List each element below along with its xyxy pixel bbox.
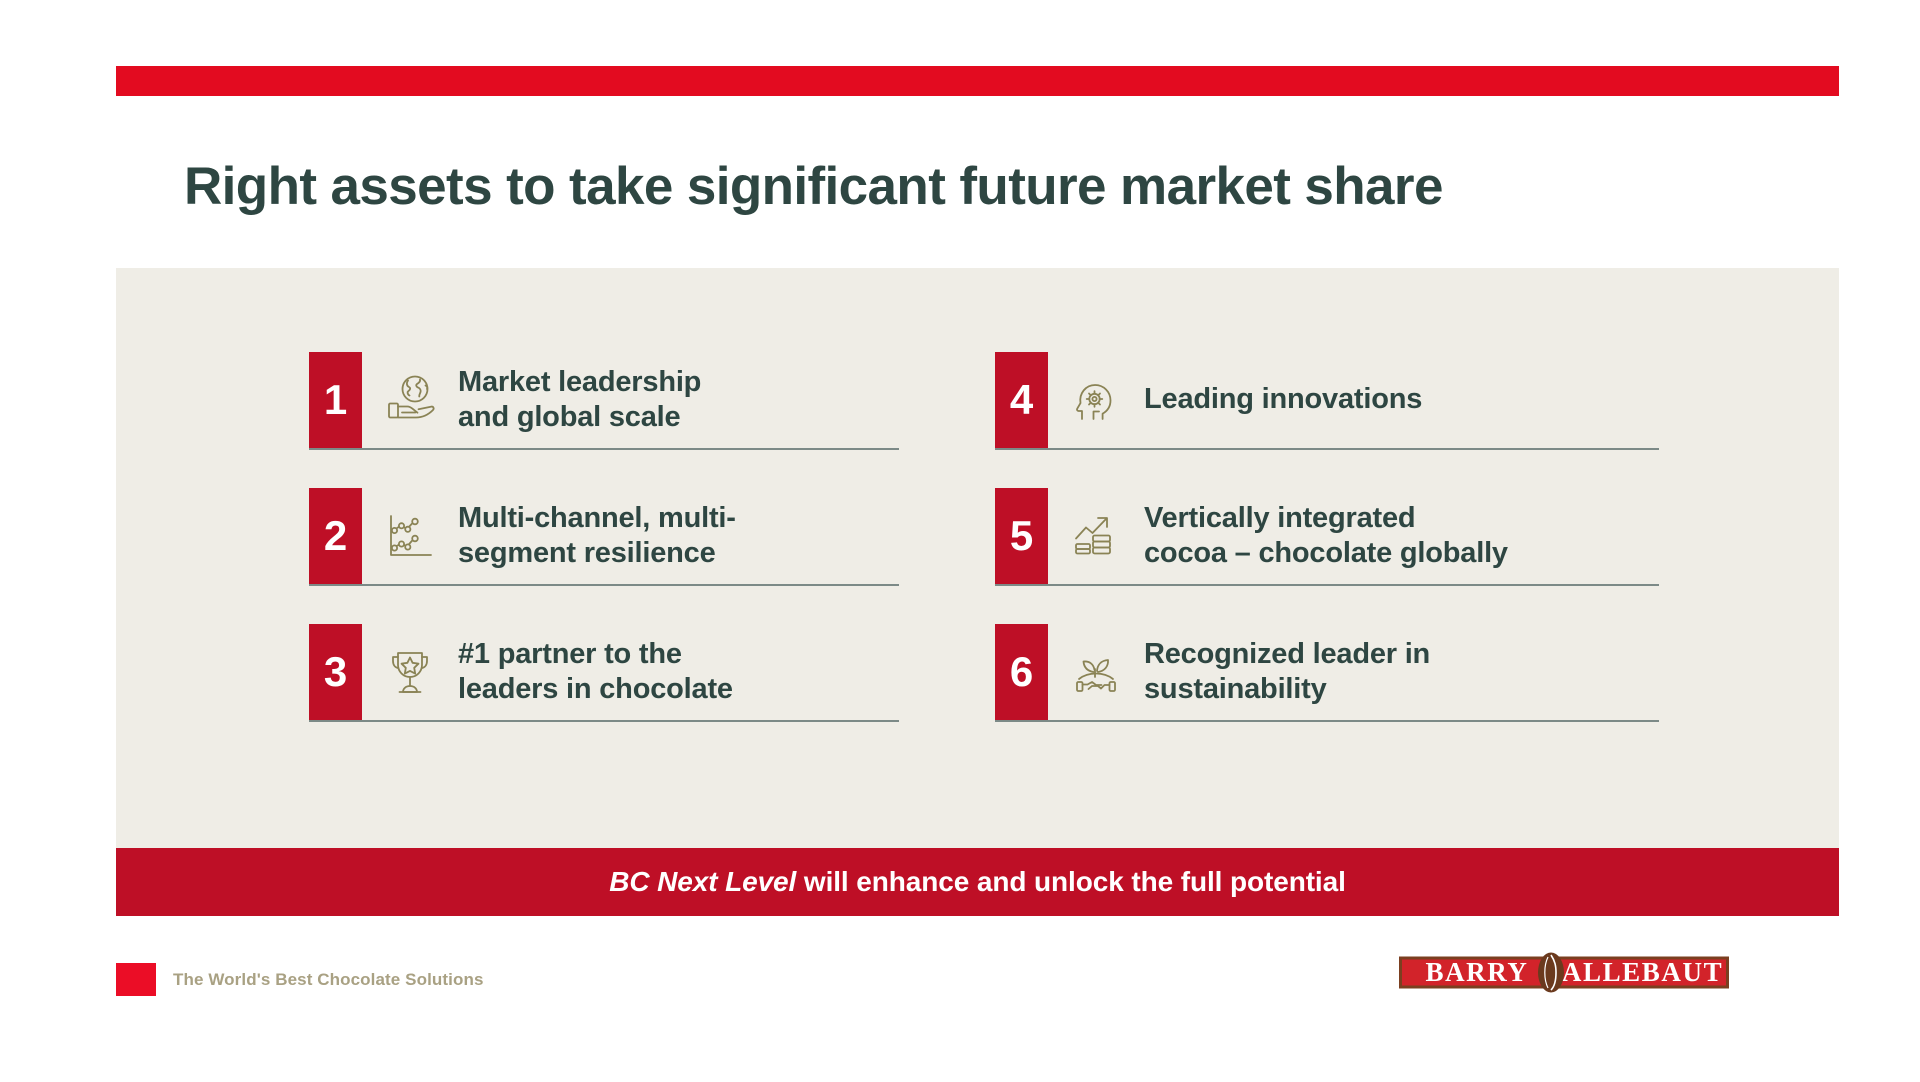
asset-label-1: Market leadership and global scale <box>458 352 899 448</box>
bottom-banner: BC Next Level will enhance and unlock th… <box>116 848 1839 916</box>
asset-number-6: 6 <box>995 624 1048 720</box>
asset-item-6[interactable]: 6 Recognized leader in <box>995 624 1659 722</box>
tagline-square-icon <box>116 963 156 996</box>
asset-label-6-line1: Recognized leader in <box>1144 638 1430 670</box>
asset-label-3-line2: leaders in chocolate <box>458 673 733 705</box>
trophy-star-icon <box>362 624 458 720</box>
tagline-text: The World's Best Chocolate Solutions <box>173 970 484 990</box>
logo-word-callebaut: CALLEBAUT <box>1541 957 1723 987</box>
growth-arrow-coins-icon <box>1048 488 1144 584</box>
asset-item-2[interactable]: 2 <box>309 488 899 586</box>
banner-emphasis: BC Next Level <box>609 866 796 897</box>
asset-label-3: #1 partner to the leaders in chocolate <box>458 624 899 720</box>
asset-label-6: Recognized leader in sustainability <box>1144 624 1659 720</box>
asset-grid: 1 Market leadership <box>309 352 1659 722</box>
asset-label-5: Vertically integrated cocoa – chocolate … <box>1144 488 1659 584</box>
asset-number-3: 3 <box>309 624 362 720</box>
asset-label-1-line1: Market leadership <box>458 366 701 398</box>
asset-item-4[interactable]: 4 Leading innovations <box>995 352 1659 450</box>
barry-callebaut-logo: BARRY CALLEBAUT <box>1399 952 1729 994</box>
asset-label-1-line2: and global scale <box>458 401 680 433</box>
asset-label-2-line2: segment resilience <box>458 537 716 569</box>
asset-label-6-line2: sustainability <box>1144 673 1327 705</box>
asset-item-5[interactable]: 5 Vertically integrated c <box>995 488 1659 586</box>
asset-number-4: 4 <box>995 352 1048 448</box>
slide-root: Right assets to take significant future … <box>0 0 1920 1082</box>
globe-in-hand-icon <box>362 352 458 448</box>
page-title: Right assets to take significant future … <box>184 158 1804 216</box>
asset-label-5-line2: cocoa – chocolate globally <box>1144 537 1508 569</box>
asset-number-2: 2 <box>309 488 362 584</box>
asset-label-4-line1: Leading innovations <box>1144 382 1422 417</box>
tagline-row: The World's Best Chocolate Solutions <box>116 963 484 996</box>
top-accent-bar <box>116 66 1839 96</box>
logo-word-barry: BARRY <box>1425 957 1528 987</box>
cocoa-bean-icon <box>1538 953 1564 993</box>
banner-rest: will enhance and unlock the full potenti… <box>796 866 1346 897</box>
handshake-sprout-icon <box>1048 624 1144 720</box>
asset-label-4: Leading innovations <box>1144 352 1659 448</box>
banner-text: BC Next Level will enhance and unlock th… <box>609 866 1346 898</box>
asset-label-2-line1: Multi-channel, multi- <box>458 502 736 534</box>
asset-number-5: 5 <box>995 488 1048 584</box>
asset-label-3-line1: #1 partner to the <box>458 638 682 670</box>
line-chart-icon <box>362 488 458 584</box>
head-gear-icon <box>1048 352 1144 448</box>
logo-svg: BARRY CALLEBAUT <box>1399 952 1729 994</box>
content-panel: 1 Market leadership <box>116 268 1839 848</box>
asset-item-1[interactable]: 1 Market leadership <box>309 352 899 450</box>
asset-number-1: 1 <box>309 352 362 448</box>
asset-item-3[interactable]: 3 #1 partner to the leade <box>309 624 899 722</box>
asset-label-2: Multi-channel, multi- segment resilience <box>458 488 899 584</box>
asset-label-5-line1: Vertically integrated <box>1144 502 1415 534</box>
